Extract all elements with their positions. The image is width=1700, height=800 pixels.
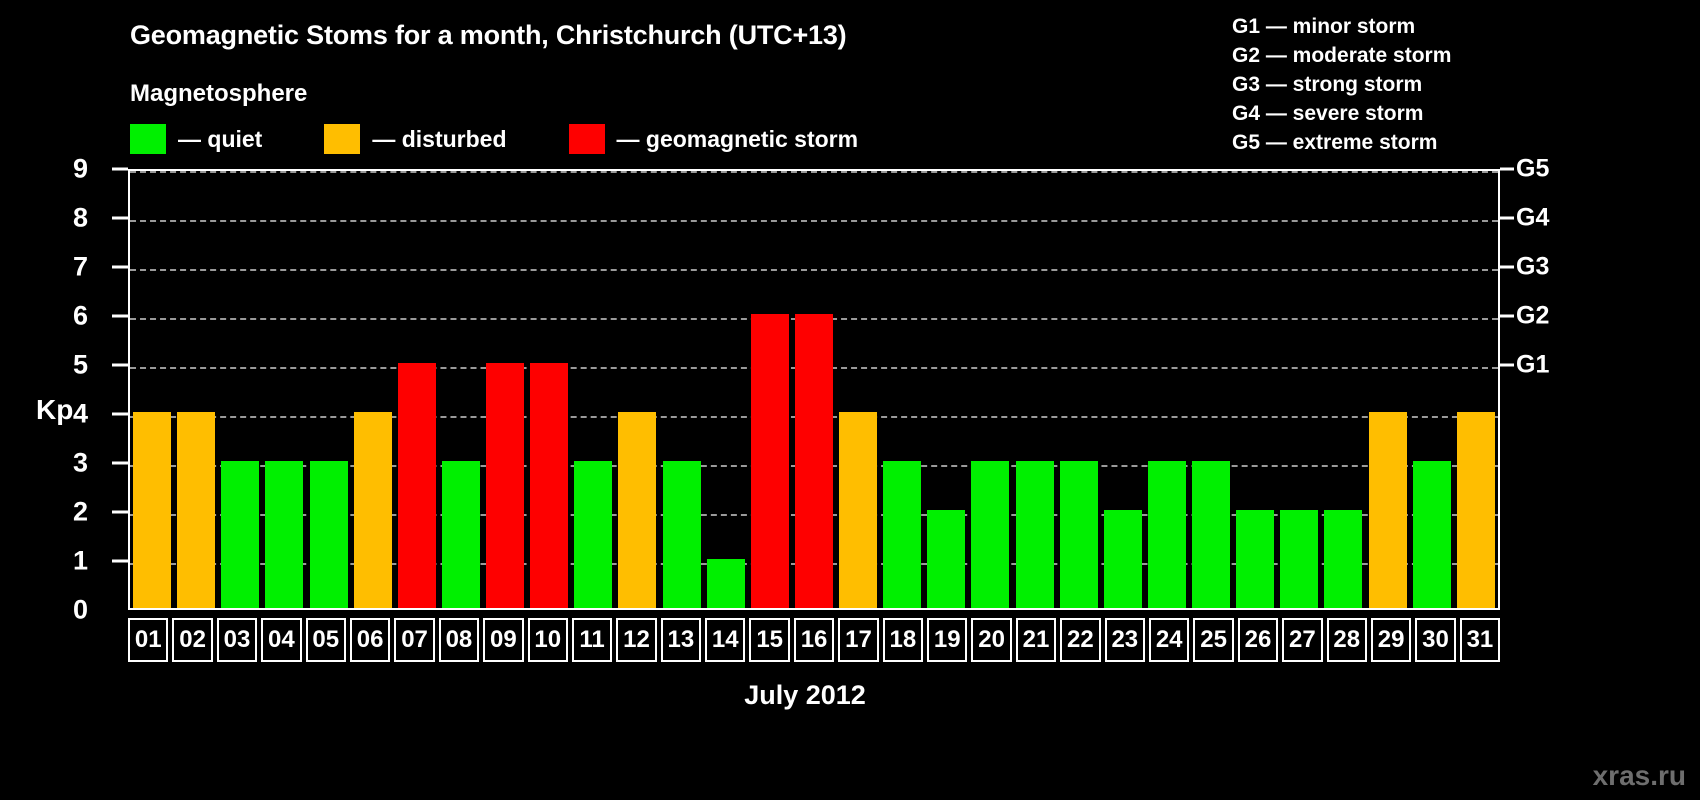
bar-cell[interactable] xyxy=(1233,171,1277,608)
y-axis-tick-mark xyxy=(112,413,128,416)
g-axis-tick-label: G3 xyxy=(1516,253,1549,282)
bar-cell[interactable] xyxy=(615,171,659,608)
legend: — quiet — disturbed — geomagnetic storm xyxy=(130,124,858,154)
g-axis-tick-mark xyxy=(1500,217,1514,220)
g-scale-legend: G1 — minor storm G2 — moderate storm G3 … xyxy=(1232,12,1451,157)
g-scale-legend-row: G5 — extreme storm xyxy=(1232,128,1451,157)
legend-item-disturbed: — disturbed xyxy=(324,124,506,154)
bar-cell[interactable] xyxy=(1454,171,1498,608)
x-axis-tick-label: 05 xyxy=(306,618,346,662)
bar-cell[interactable] xyxy=(836,171,880,608)
x-axis-tick-label: 17 xyxy=(838,618,878,662)
g-axis-tick-label: G2 xyxy=(1516,302,1549,331)
bar[interactable] xyxy=(1369,412,1407,608)
x-axis-title: July 2012 xyxy=(0,680,1610,711)
x-axis-tick-label: 23 xyxy=(1105,618,1145,662)
bar[interactable] xyxy=(1016,461,1054,608)
bar-cell[interactable] xyxy=(483,171,527,608)
bar-series xyxy=(130,171,1498,608)
bar[interactable] xyxy=(663,461,701,608)
bar[interactable] xyxy=(486,363,524,608)
y-axis-tick-mark xyxy=(112,217,128,220)
g-axis-tick-label: G1 xyxy=(1516,351,1549,380)
bar-cell[interactable] xyxy=(660,171,704,608)
x-axis-tick-labels: 0102030405060708091011121314151617181920… xyxy=(128,618,1500,662)
bar-cell[interactable] xyxy=(748,171,792,608)
bar-cell[interactable] xyxy=(1145,171,1189,608)
bar[interactable] xyxy=(1060,461,1098,608)
bar[interactable] xyxy=(1280,510,1318,608)
y-axis-tick-mark xyxy=(112,364,128,367)
x-axis-tick-label: 29 xyxy=(1371,618,1411,662)
x-axis-tick-label: 16 xyxy=(794,618,834,662)
x-axis-tick-label: 18 xyxy=(883,618,923,662)
bar[interactable] xyxy=(1236,510,1274,608)
bar[interactable] xyxy=(971,461,1009,608)
legend-item-storm: — geomagnetic storm xyxy=(569,124,859,154)
x-axis-tick-label: 13 xyxy=(661,618,701,662)
bar[interactable] xyxy=(442,461,480,608)
y-axis-tick-mark xyxy=(112,315,128,318)
bar-cell[interactable] xyxy=(792,171,836,608)
y-axis-tick-label: 8 xyxy=(48,203,88,234)
bar[interactable] xyxy=(530,363,568,608)
x-axis-tick-label: 04 xyxy=(261,618,301,662)
page-title: Geomagnetic Stoms for a month, Christchu… xyxy=(130,20,846,51)
watermark: xras.ru xyxy=(1593,760,1686,792)
y-axis-tick-mark xyxy=(112,560,128,563)
bar[interactable] xyxy=(795,314,833,608)
bar-cell[interactable] xyxy=(1321,171,1365,608)
y-axis-tick-label: 7 xyxy=(48,252,88,283)
x-axis-tick-label: 30 xyxy=(1415,618,1455,662)
x-axis-tick-label: 07 xyxy=(394,618,434,662)
bar[interactable] xyxy=(751,314,789,608)
bar-cell[interactable] xyxy=(571,171,615,608)
bar[interactable] xyxy=(265,461,303,608)
bar[interactable] xyxy=(839,412,877,608)
bar-cell[interactable] xyxy=(1101,171,1145,608)
bar[interactable] xyxy=(1148,461,1186,608)
bar-cell[interactable] xyxy=(351,171,395,608)
bar[interactable] xyxy=(310,461,348,608)
bar[interactable] xyxy=(883,461,921,608)
x-axis-tick-label: 06 xyxy=(350,618,390,662)
x-axis-tick-label: 28 xyxy=(1327,618,1367,662)
x-axis-tick-label: 08 xyxy=(439,618,479,662)
legend-swatch-disturbed xyxy=(324,124,360,154)
bar-cell[interactable] xyxy=(130,171,174,608)
g-axis-tick-label: G4 xyxy=(1516,204,1549,233)
bar-cell[interactable] xyxy=(1366,171,1410,608)
legend-label-quiet: — quiet xyxy=(178,126,262,153)
x-axis-tick-label: 21 xyxy=(1016,618,1056,662)
bar-cell[interactable] xyxy=(880,171,924,608)
y-axis-tick-label: 5 xyxy=(48,350,88,381)
plot-area xyxy=(128,169,1500,610)
bar-cell[interactable] xyxy=(439,171,483,608)
bar-cell[interactable] xyxy=(1013,171,1057,608)
x-axis-tick-label: 11 xyxy=(572,618,612,662)
bar[interactable] xyxy=(574,461,612,608)
bar-cell[interactable] xyxy=(174,171,218,608)
y-axis-tick-label: 6 xyxy=(48,301,88,332)
x-axis-tick-label: 14 xyxy=(705,618,745,662)
y-axis-tick-label: 3 xyxy=(48,448,88,479)
bar[interactable] xyxy=(177,412,215,608)
x-axis-tick-label: 22 xyxy=(1060,618,1100,662)
g-axis-tick-mark xyxy=(1500,364,1514,367)
y-axis-tick-label: 2 xyxy=(48,497,88,528)
y-axis-tick-label: 9 xyxy=(48,154,88,185)
bar-cell[interactable] xyxy=(307,171,351,608)
bar-cell[interactable] xyxy=(1410,171,1454,608)
g-axis-tick-mark xyxy=(1500,266,1514,269)
bar[interactable] xyxy=(1324,510,1362,608)
y-axis-tick-mark xyxy=(112,266,128,269)
x-axis-tick-label: 26 xyxy=(1238,618,1278,662)
bar[interactable] xyxy=(707,559,745,608)
bar[interactable] xyxy=(133,412,171,608)
x-axis-tick-label: 12 xyxy=(616,618,656,662)
x-axis-tick-label: 10 xyxy=(528,618,568,662)
legend-swatch-storm xyxy=(569,124,605,154)
legend-heading: Magnetosphere xyxy=(130,80,307,108)
y-axis-tick-mark xyxy=(112,462,128,465)
g-scale-legend-row: G4 — severe storm xyxy=(1232,99,1451,128)
y-axis-tick-label: 1 xyxy=(48,546,88,577)
y-axis-tick-label: 0 xyxy=(48,595,88,626)
legend-label-storm: — geomagnetic storm xyxy=(617,126,859,153)
bar-cell[interactable] xyxy=(218,171,262,608)
g-axis-tick-mark xyxy=(1500,168,1514,171)
bar-cell[interactable] xyxy=(395,171,439,608)
bar-cell[interactable] xyxy=(527,171,571,608)
y-axis-tick-label: 4 xyxy=(48,399,88,430)
bar[interactable] xyxy=(354,412,392,608)
x-axis-tick-label: 09 xyxy=(483,618,523,662)
bar[interactable] xyxy=(927,510,965,608)
bar-cell[interactable] xyxy=(1057,171,1101,608)
legend-label-disturbed: — disturbed xyxy=(372,126,506,153)
bar-cell[interactable] xyxy=(968,171,1012,608)
bar-cell[interactable] xyxy=(1189,171,1233,608)
bar[interactable] xyxy=(1104,510,1142,608)
bar-cell[interactable] xyxy=(704,171,748,608)
bar-cell[interactable] xyxy=(262,171,306,608)
x-axis-tick-label: 25 xyxy=(1193,618,1233,662)
g-axis-tick-mark xyxy=(1500,315,1514,318)
g-scale-legend-row: G2 — moderate storm xyxy=(1232,41,1451,70)
g-scale-legend-row: G1 — minor storm xyxy=(1232,12,1451,41)
bar[interactable] xyxy=(398,363,436,608)
x-axis-tick-label: 24 xyxy=(1149,618,1189,662)
g-axis-tick-label: G5 xyxy=(1516,155,1549,184)
g-scale-legend-row: G3 — strong storm xyxy=(1232,70,1451,99)
bar[interactable] xyxy=(1413,461,1451,608)
x-axis-tick-label: 20 xyxy=(971,618,1011,662)
x-axis-tick-label: 03 xyxy=(217,618,257,662)
bar-cell[interactable] xyxy=(1277,171,1321,608)
bar[interactable] xyxy=(1192,461,1230,608)
legend-item-quiet: — quiet xyxy=(130,124,262,154)
x-axis-tick-label: 31 xyxy=(1460,618,1500,662)
bar[interactable] xyxy=(618,412,656,608)
y-axis-tick-mark xyxy=(112,511,128,514)
x-axis-tick-label: 19 xyxy=(927,618,967,662)
x-axis-tick-label: 02 xyxy=(172,618,212,662)
bar[interactable] xyxy=(1457,412,1495,608)
bar-cell[interactable] xyxy=(924,171,968,608)
y-axis-tick-mark xyxy=(112,168,128,171)
legend-swatch-quiet xyxy=(130,124,166,154)
x-axis-tick-label: 01 xyxy=(128,618,168,662)
x-axis-tick-label: 15 xyxy=(749,618,789,662)
bar[interactable] xyxy=(221,461,259,608)
x-axis-tick-label: 27 xyxy=(1282,618,1322,662)
